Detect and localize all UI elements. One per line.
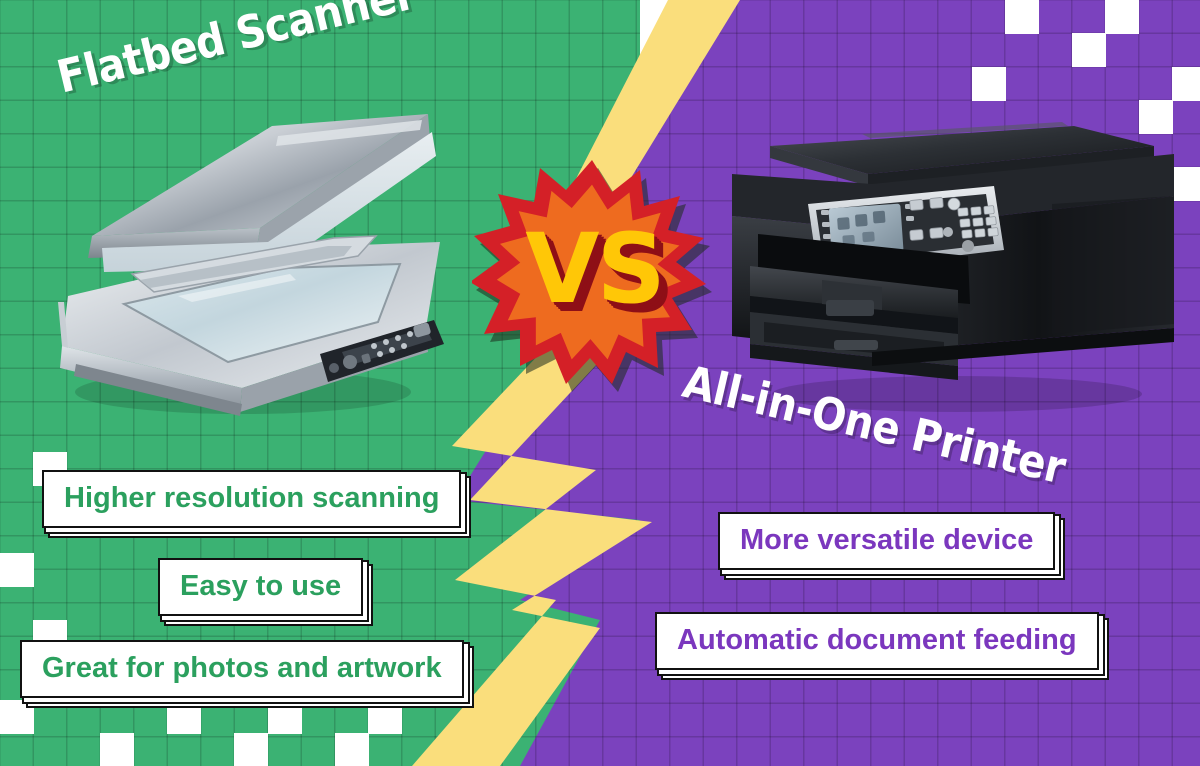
checker-square xyxy=(0,700,34,734)
checker-square xyxy=(335,733,369,766)
left-feature-chip: Higher resolution scanning xyxy=(42,470,461,528)
right-feature-chip: Automatic document feeding xyxy=(655,612,1099,670)
flatbed-scanner-image xyxy=(28,96,448,426)
vs-badge: VS xyxy=(472,152,712,392)
checker-square xyxy=(268,700,302,734)
right-feature-chip: More versatile device xyxy=(718,512,1055,570)
checker-square xyxy=(1005,0,1039,34)
checker-square xyxy=(100,733,134,766)
checker-square xyxy=(0,553,34,587)
checker-square xyxy=(1172,67,1200,101)
checker-square xyxy=(1105,0,1139,34)
checker-square xyxy=(1072,33,1106,67)
checker-square xyxy=(972,67,1006,101)
left-feature-chip: Easy to use xyxy=(158,558,363,616)
checker-square xyxy=(167,700,201,734)
vs-label: VS xyxy=(472,152,712,392)
all-in-one-printer-image xyxy=(722,104,1182,414)
checker-square xyxy=(368,700,402,734)
comparison-infographic: VS Flatbed Scanner All-in-One Printer Hi… xyxy=(0,0,1200,766)
left-feature-chip: Great for photos and artwork xyxy=(20,640,464,698)
checker-square xyxy=(234,733,268,766)
